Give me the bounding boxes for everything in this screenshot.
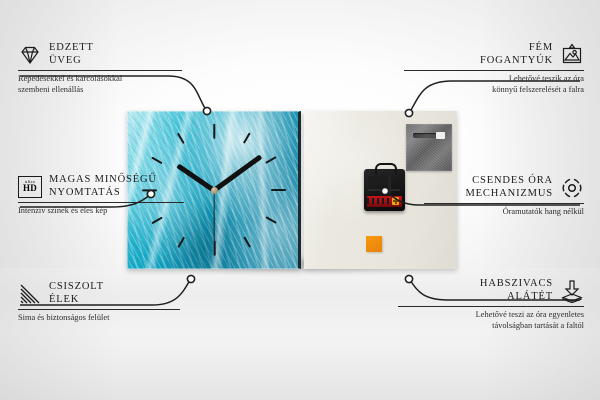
callout-high-quality-print: ultra HD MAGAS MINŐSÉGŰ NYOMTATÁS Intenz… xyxy=(18,174,184,217)
callout-header: CSISZOLT ÉLEK xyxy=(18,281,180,306)
battery-plus-terminal xyxy=(392,197,399,205)
callout-tempered-glass: EDZETT ÜVEG Repedésekkel és karcolásokka… xyxy=(18,42,182,95)
battery-label xyxy=(367,198,394,204)
callout-title: CSENDES ÓRA MECHANIZMUS xyxy=(465,175,553,200)
callout-title: FÉM FOGANTYÚK xyxy=(480,42,553,67)
hd-label: HD xyxy=(23,184,37,193)
foam-spacer-pad xyxy=(366,236,382,252)
callout-silent-mechanism: CSENDES ÓRA MECHANIZMUS Óramutatók hang … xyxy=(424,175,584,218)
callout-divider xyxy=(18,309,180,310)
callout-title: HABSZIVACS ALÁTÉT xyxy=(480,278,553,303)
callout-metal-handles: FÉM FOGANTYÚK Lehetővé teszik az óra kön… xyxy=(404,42,584,95)
callout-desc-line1: Lehetővé teszik az óra xyxy=(404,74,584,85)
hanger-texture xyxy=(406,124,452,171)
aa-battery xyxy=(367,196,402,207)
callout-title: CSISZOLT ÉLEK xyxy=(49,281,104,306)
callout-divider xyxy=(18,70,182,71)
hanger-hole xyxy=(436,132,445,139)
callout-title: MAGAS MINŐSÉGŰ NYOMTATÁS xyxy=(49,174,157,199)
callout-desc-line2: könnyű felszerelését a falra xyxy=(404,85,584,96)
mechanism-detail-1 xyxy=(368,176,388,185)
mechanism-hang-loop xyxy=(375,163,397,175)
picture-frame-hanger-icon xyxy=(560,43,584,67)
callout-desc-line1: Lehetővé teszi az óra egyenletes xyxy=(398,310,584,321)
callout-desc-line2: szembeni ellenállás xyxy=(18,85,182,96)
mechanism-detail-3 xyxy=(368,189,400,191)
quartz-mechanism xyxy=(364,169,405,211)
vignette-bottom xyxy=(0,330,600,400)
callout-desc-line2: távolságban tartását a faltól xyxy=(398,321,584,332)
down-arrow-pad-icon xyxy=(560,279,584,303)
callout-desc-line1: Óramutatók hang nélkül xyxy=(424,207,584,218)
callout-divider xyxy=(398,306,584,307)
callout-polished-edges: CSISZOLT ÉLEK Sima és biztonságos felüle… xyxy=(18,281,180,324)
callout-desc-line1: Intenzív színek és éles kép xyxy=(18,206,184,217)
diamond-icon xyxy=(18,43,42,67)
callout-divider xyxy=(18,202,184,203)
callout-header: ultra HD MAGAS MINŐSÉGŰ NYOMTATÁS xyxy=(18,174,184,199)
gear-icon xyxy=(560,176,584,200)
callout-desc-line1: Repedésekkel és karcolásokkal xyxy=(18,74,182,85)
callout-header: EDZETT ÜVEG xyxy=(18,42,182,67)
callout-divider xyxy=(424,203,584,204)
ultra-hd-icon: ultra HD xyxy=(18,176,42,198)
callout-header: FÉM FOGANTYÚK xyxy=(404,42,584,67)
callout-foam-pad: HABSZIVACS ALÁTÉT Lehetővé teszi az óra … xyxy=(398,278,584,331)
metal-hanger-plate xyxy=(406,124,452,171)
callout-title: EDZETT ÜVEG xyxy=(49,42,94,67)
callout-header: CSENDES ÓRA MECHANIZMUS xyxy=(424,175,584,200)
beveled-edge-icon xyxy=(18,282,42,306)
callout-desc-line1: Sima és biztonságos felület xyxy=(18,313,180,324)
callout-header: HABSZIVACS ALÁTÉT xyxy=(398,278,584,303)
callout-divider xyxy=(404,70,584,71)
